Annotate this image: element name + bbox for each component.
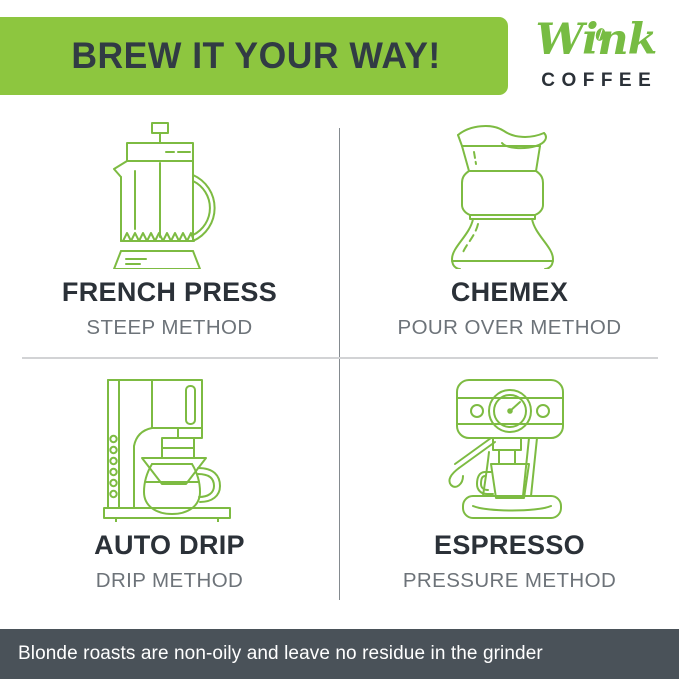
method-labels: AUTO DRIP DRIP METHOD: [94, 529, 245, 594]
french-press-icon: [90, 114, 250, 274]
method-subtitle: DRIP METHOD: [96, 567, 244, 594]
method-labels: ESPRESSO PRESSURE METHOD: [403, 529, 616, 594]
method-title: ESPRESSO: [434, 529, 585, 561]
method-cell-auto-drip: AUTO DRIP DRIP METHOD: [0, 365, 339, 617]
brand-word-text: COFFEE: [516, 70, 676, 92]
espresso-machine-icon: [425, 367, 595, 527]
method-cell-chemex: CHEMEX POUR OVER METHOD: [340, 112, 679, 364]
method-cell-espresso: ESPRESSO PRESSURE METHOD: [340, 365, 679, 617]
method-labels: FRENCH PRESS STEEP METHOD: [62, 276, 277, 341]
method-title: CHEMEX: [451, 276, 568, 308]
chemex-icon: [440, 114, 580, 274]
method-title: AUTO DRIP: [94, 529, 245, 561]
brand-logo: Wink COFFEE: [516, 14, 676, 102]
header-banner: BREW IT YOUR WAY!: [0, 17, 508, 95]
method-subtitle: PRESSURE METHOD: [403, 567, 616, 594]
header: BREW IT YOUR WAY! Wink COFFEE: [0, 0, 679, 112]
method-cell-french-press: FRENCH PRESS STEEP METHOD: [0, 112, 339, 364]
method-subtitle: POUR OVER METHOD: [398, 314, 622, 341]
footer-bar: Blonde roasts are non-oily and leave no …: [0, 629, 679, 679]
auto-drip-coffee-maker-icon: [90, 367, 250, 527]
brew-methods-infographic: BREW IT YOUR WAY! Wink COFFEE: [0, 0, 679, 679]
method-subtitle: STEEP METHOD: [86, 314, 252, 341]
brand-script-text: Wink: [516, 14, 676, 66]
method-labels: CHEMEX POUR OVER METHOD: [398, 276, 622, 341]
methods-grid: FRENCH PRESS STEEP METHOD: [0, 112, 679, 617]
page-title: BREW IT YOUR WAY!: [58, 35, 441, 77]
footer-note: Blonde roasts are non-oily and leave no …: [18, 643, 543, 665]
method-title: FRENCH PRESS: [62, 276, 277, 308]
